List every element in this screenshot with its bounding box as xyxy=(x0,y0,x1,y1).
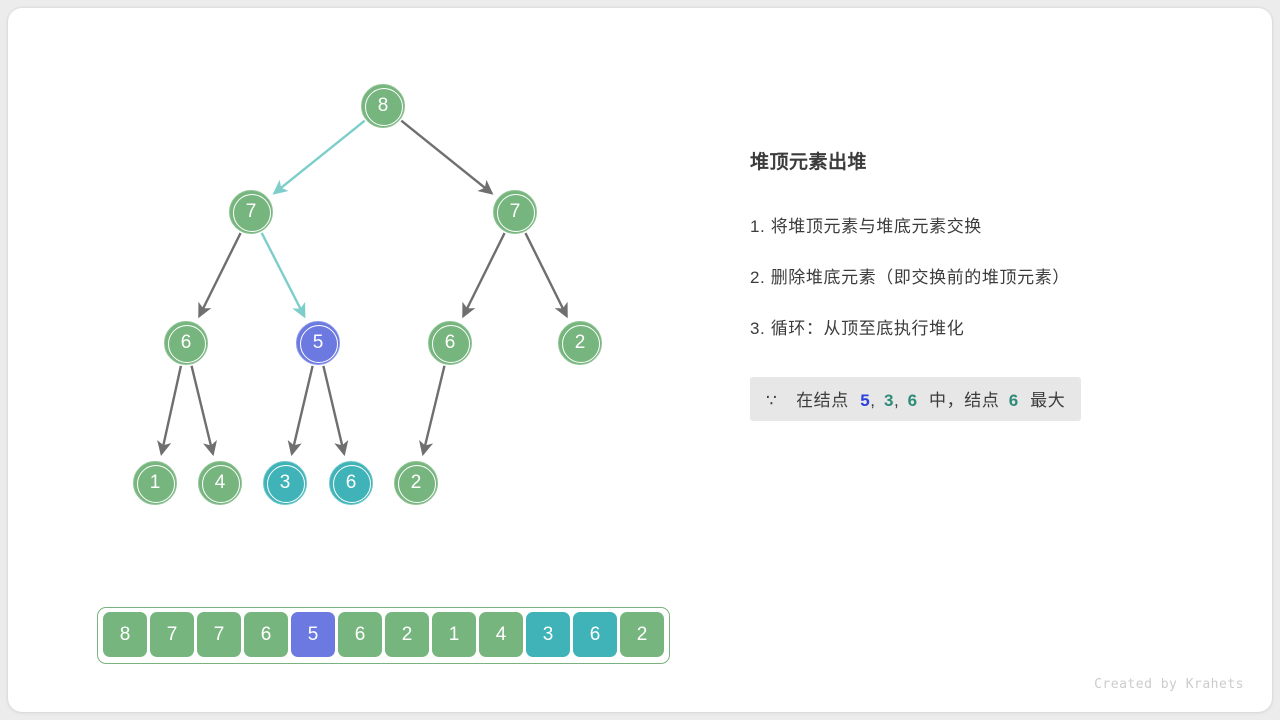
tree-node: 2 xyxy=(558,321,602,365)
note-value-2: 6 xyxy=(908,391,918,410)
tree-node-label: 8 xyxy=(378,96,389,116)
array-cell-label: 5 xyxy=(308,624,319,646)
array-cell: 6 xyxy=(244,612,288,657)
step-item-3: 3. 循环：从顶至底执行堆化 xyxy=(750,320,1220,337)
note-comma-1: , xyxy=(894,391,899,410)
array-cell: 2 xyxy=(620,612,664,657)
tree-edge xyxy=(192,366,213,454)
tree-node: 2 xyxy=(394,461,438,505)
tree-edge xyxy=(401,121,491,194)
heap-array: 877656214362 xyxy=(97,607,670,664)
page-title: 堆顶元素出堆 xyxy=(750,147,867,174)
tree-node-label: 5 xyxy=(313,333,324,353)
array-cell-label: 7 xyxy=(214,624,225,646)
tree-node: 6 xyxy=(329,461,373,505)
array-cell: 6 xyxy=(338,612,382,657)
note-suffix: 最大 xyxy=(1030,391,1065,410)
array-cell-label: 6 xyxy=(590,624,601,646)
array-cell-label: 4 xyxy=(496,624,507,646)
step-item-2: 2. 删除堆底元素（即交换前的堆顶元素） xyxy=(750,269,1220,286)
array-cell: 2 xyxy=(385,612,429,657)
tree-node-label: 2 xyxy=(575,333,586,353)
tree-node: 7 xyxy=(493,190,537,234)
tree-edge xyxy=(262,233,305,316)
tree-node-label: 7 xyxy=(510,202,521,222)
tree-node-label: 6 xyxy=(445,333,456,353)
credit-text: Created by Krahets xyxy=(1094,677,1244,692)
note-value-0: 5 xyxy=(860,391,870,410)
description-panel: 堆顶元素出堆 1. 将堆顶元素与堆底元素交换2. 删除堆底元素（即交换前的堆顶元… xyxy=(750,8,1220,712)
tree-node-label: 7 xyxy=(246,202,257,222)
tree-edge xyxy=(323,366,344,454)
tree-node: 3 xyxy=(263,461,307,505)
step-list: 1. 将堆顶元素与堆底元素交换2. 删除堆底元素（即交换前的堆顶元素）3. 循环… xyxy=(750,218,1220,371)
array-cell: 8 xyxy=(103,612,147,657)
array-cell-label: 7 xyxy=(167,624,178,646)
tree-edges xyxy=(161,121,566,454)
note-comma-0: , xyxy=(870,391,875,410)
tree-node: 8 xyxy=(361,84,405,128)
page-card: 877656214362 877656214362 堆顶元素出堆 1. 将堆顶元… xyxy=(8,8,1272,712)
tree-edge xyxy=(274,121,364,194)
tree-node-label: 1 xyxy=(150,473,161,493)
note-box: ∵ 在结点 5, 3, 6 中，结点 6 最大 xyxy=(750,377,1081,421)
tree-edge xyxy=(161,366,180,454)
tree-edge xyxy=(292,366,313,454)
array-cell-label: 6 xyxy=(355,624,366,646)
tree-edge xyxy=(525,233,566,316)
array-cell-label: 8 xyxy=(120,624,131,646)
note-middle: 中，结点 xyxy=(929,391,999,410)
array-cell: 3 xyxy=(526,612,570,657)
array-cell: 7 xyxy=(150,612,194,657)
heap-diagram: 877656214362 877656214362 xyxy=(8,8,708,712)
note-value-1: 3 xyxy=(884,391,894,410)
array-cell-label: 3 xyxy=(543,624,554,646)
array-cell: 1 xyxy=(432,612,476,657)
tree-edge xyxy=(423,366,444,454)
tree-node: 1 xyxy=(133,461,177,505)
tree-node-label: 2 xyxy=(411,473,422,493)
array-cell-label: 6 xyxy=(261,624,272,646)
tree-node: 7 xyxy=(229,190,273,234)
array-cell: 6 xyxy=(573,612,617,657)
tree-node: 6 xyxy=(164,321,208,365)
array-cell-label: 2 xyxy=(402,624,413,646)
array-cell: 7 xyxy=(197,612,241,657)
note-max-value: 6 xyxy=(1009,391,1019,410)
array-cell-label: 2 xyxy=(637,624,648,646)
note-symbol: ∵ xyxy=(766,391,777,410)
array-cell: 5 xyxy=(291,612,335,657)
tree-node: 6 xyxy=(428,321,472,365)
tree-edge xyxy=(463,233,504,316)
tree-node: 5 xyxy=(296,321,340,365)
note-prefix: 在结点 xyxy=(796,391,849,410)
tree-edge xyxy=(199,233,240,316)
tree-node-label: 6 xyxy=(181,333,192,353)
array-cell-label: 1 xyxy=(449,624,460,646)
tree-node-label: 4 xyxy=(215,473,226,493)
array-cell: 4 xyxy=(479,612,523,657)
step-item-1: 1. 将堆顶元素与堆底元素交换 xyxy=(750,218,1220,235)
tree-node-label: 3 xyxy=(280,473,291,493)
tree-node: 4 xyxy=(198,461,242,505)
tree-node-label: 6 xyxy=(346,473,357,493)
